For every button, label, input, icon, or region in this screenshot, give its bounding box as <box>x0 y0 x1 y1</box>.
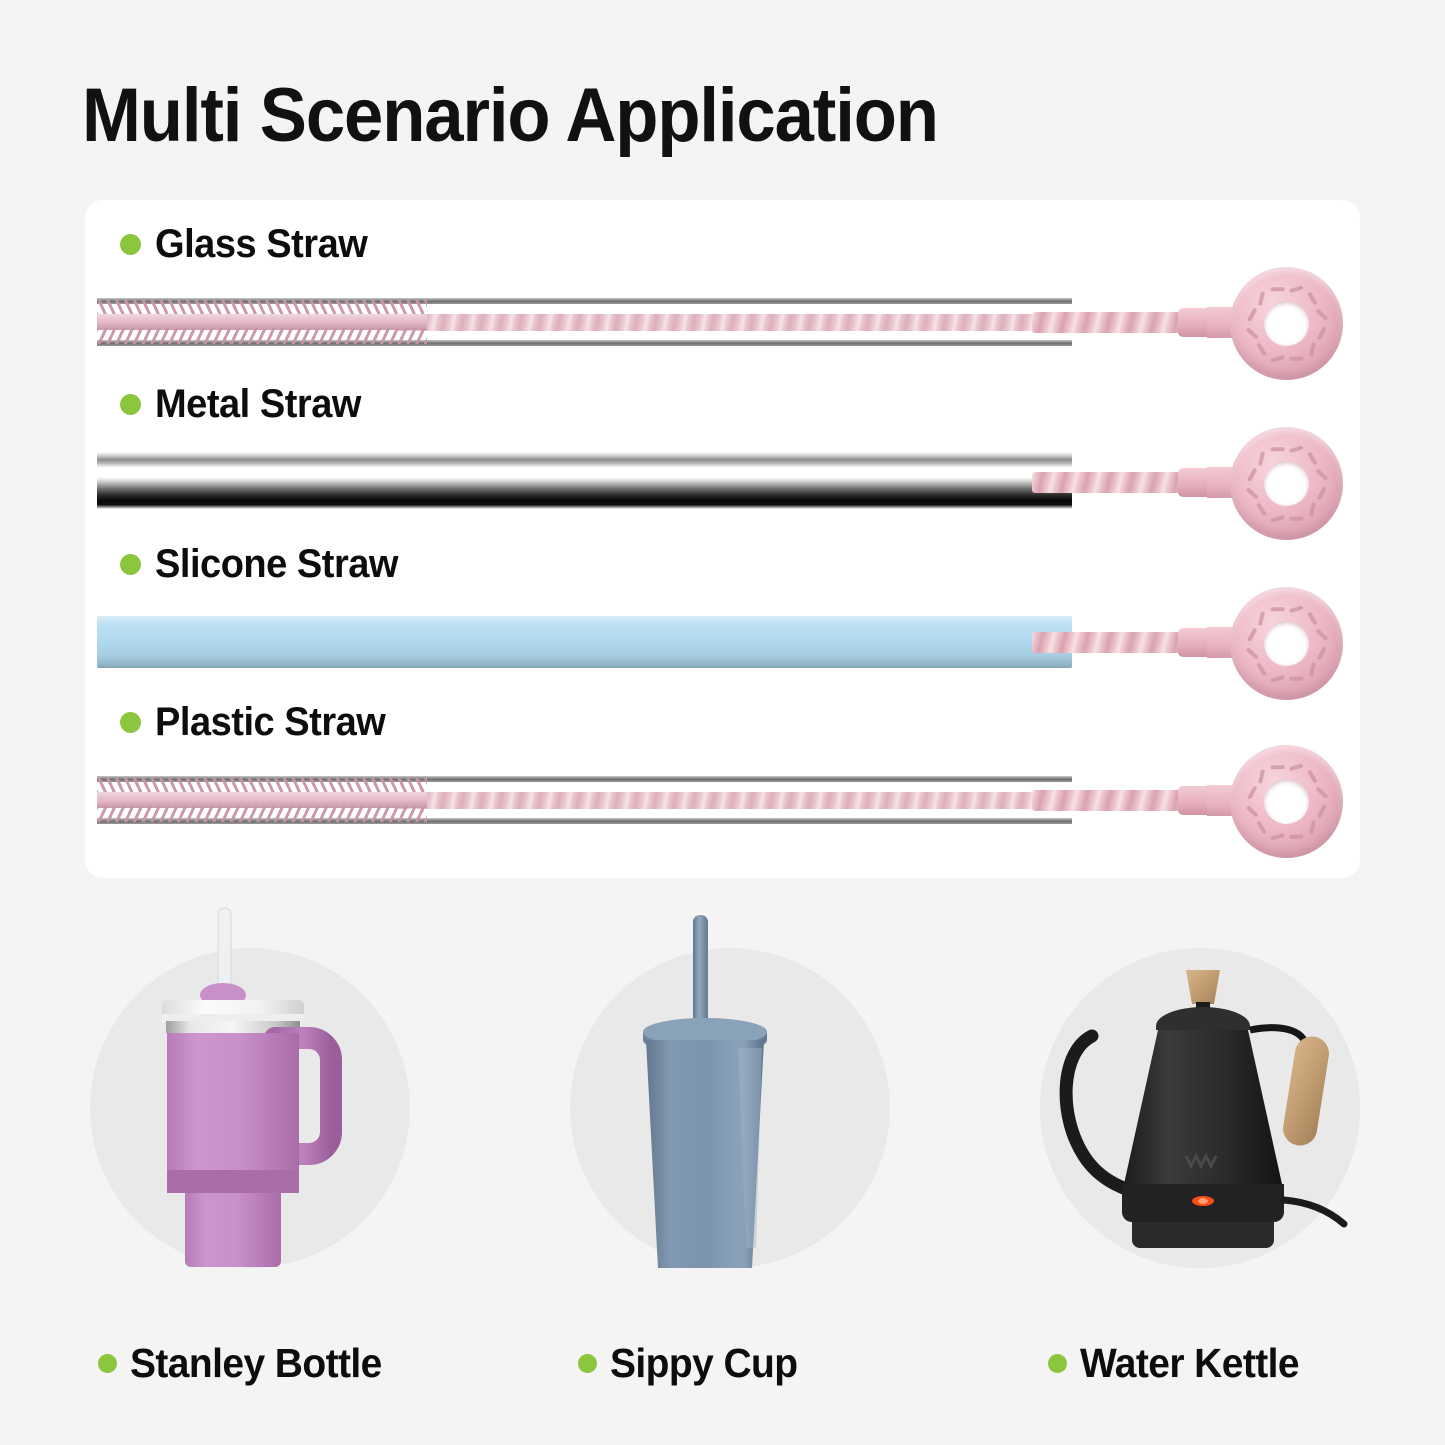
donut-sprinkle <box>1307 611 1318 625</box>
donut-handle-silicone <box>1032 594 1352 690</box>
donut-sprinkle <box>1247 627 1257 641</box>
donut-sprinkle <box>1289 676 1303 680</box>
straw-row-label-text: Plastic Straw <box>155 700 385 745</box>
donut-handle-plastic <box>1032 752 1352 848</box>
straw-comparison-card: Glass Straw Metal Straw <box>85 200 1360 878</box>
straw-graphic-glass <box>97 274 1352 370</box>
product-label-stanley-bottle: Stanley Bottle <box>98 1340 395 1387</box>
donut-sprinkle <box>1316 486 1326 500</box>
donut-handle-glass <box>1032 274 1352 370</box>
donut-sprinkle <box>1270 832 1285 840</box>
page-title: Multi Scenario Application <box>82 78 938 154</box>
donut-sprinkle <box>1270 765 1284 769</box>
donut-sprinkle <box>1316 646 1326 660</box>
handle-stem <box>1032 790 1182 811</box>
product-label-text: Sippy Cup <box>610 1340 797 1387</box>
bristle-band-bottom <box>97 328 427 344</box>
donut-sprinkle <box>1245 805 1258 817</box>
straw-row-label-text: Glass Straw <box>155 222 367 267</box>
bristle-band-bottom <box>97 806 427 822</box>
donut-sprinkle <box>1308 502 1315 517</box>
donut-sprinkle <box>1257 291 1264 306</box>
product-label-sippy-cup: Sippy Cup <box>578 1340 807 1387</box>
bullet-dot-icon <box>120 554 141 575</box>
silicone-tube <box>97 616 1072 668</box>
product-label-text: Water Kettle <box>1080 1340 1299 1387</box>
donut-ring-icon <box>1230 267 1343 380</box>
donut-sprinkle <box>1315 786 1328 798</box>
donut-sprinkle <box>1289 516 1303 520</box>
donut-sprinkle <box>1270 607 1284 611</box>
brush-bristles <box>97 778 427 822</box>
brush-wire-core <box>397 792 1077 809</box>
donut-sprinkle <box>1245 647 1258 659</box>
product-label-text: Stanley Bottle <box>130 1340 382 1387</box>
handle-stem <box>1032 632 1182 653</box>
sippy-cup-illustration <box>570 948 890 1268</box>
donut-sprinkle <box>1245 487 1258 499</box>
donut-sprinkle <box>1270 287 1284 291</box>
straw-graphic-silicone <box>97 594 1352 690</box>
bullet-dot-icon <box>120 234 141 255</box>
donut-sprinkle <box>1308 820 1315 835</box>
donut-sprinkle <box>1257 451 1264 466</box>
donut-sprinkle <box>1247 307 1257 321</box>
donut-sprinkle <box>1315 468 1328 480</box>
straw-row-label-plastic: Plastic Straw <box>120 700 398 745</box>
donut-sprinkle <box>1316 326 1326 340</box>
donut-sprinkle <box>1289 834 1303 838</box>
donut-sprinkle <box>1316 804 1326 818</box>
donut-sprinkle <box>1288 605 1303 613</box>
donut-hole <box>1264 461 1309 506</box>
donut-sprinkle <box>1247 467 1257 481</box>
donut-sprinkle <box>1256 662 1267 676</box>
donut-sprinkle <box>1288 763 1303 771</box>
donut-hole <box>1264 621 1309 666</box>
brush-bristles <box>97 300 427 344</box>
donut-sprinkle <box>1307 769 1318 783</box>
donut-sprinkle <box>1307 291 1318 305</box>
donut-sprinkle <box>1288 285 1303 293</box>
bullet-dot-icon <box>120 394 141 415</box>
donut-sprinkle <box>1247 785 1257 799</box>
metal-tube <box>97 452 1072 512</box>
bullet-dot-icon <box>98 1354 117 1373</box>
product-label-water-kettle: Water Kettle <box>1048 1340 1311 1387</box>
donut-sprinkle <box>1256 820 1267 834</box>
donut-hole <box>1264 779 1309 824</box>
donut-sprinkle <box>1245 327 1258 339</box>
donut-sprinkle <box>1270 354 1285 362</box>
donut-sprinkle <box>1257 611 1264 626</box>
handle-stem <box>1032 472 1182 493</box>
donut-sprinkle <box>1256 342 1267 356</box>
bullet-dot-icon <box>578 1354 597 1373</box>
bullet-dot-icon <box>1048 1354 1067 1373</box>
bullet-dot-icon <box>120 712 141 733</box>
donut-sprinkle <box>1315 628 1328 640</box>
donut-sprinkle <box>1288 445 1303 453</box>
donut-sprinkle <box>1289 356 1303 360</box>
straw-row-label-glass: Glass Straw <box>120 222 379 267</box>
straw-graphic-metal <box>97 434 1352 530</box>
donut-hole <box>1264 301 1309 346</box>
stanley-bottle-illustration <box>90 948 410 1268</box>
donut-sprinkle <box>1308 662 1315 677</box>
straw-row-label-text: Metal Straw <box>155 382 361 427</box>
donut-sprinkle <box>1256 502 1267 516</box>
donut-ring-icon <box>1230 587 1343 700</box>
handle-stem <box>1032 312 1182 333</box>
brush-wire-core <box>397 314 1077 331</box>
donut-sprinkle <box>1270 674 1285 682</box>
product-sippy-cup: Sippy Cup <box>570 948 890 1268</box>
water-kettle-illustration <box>1040 948 1360 1268</box>
donut-sprinkle <box>1308 342 1315 357</box>
donut-sprinkle <box>1315 308 1328 320</box>
straw-row-label-metal: Metal Straw <box>120 382 372 427</box>
product-water-kettle: Water Kettle <box>1040 948 1360 1268</box>
donut-ring-icon <box>1230 745 1343 858</box>
product-stanley-bottle: Stanley Bottle <box>90 948 410 1268</box>
donut-handle-metal <box>1032 434 1352 530</box>
donut-sprinkle <box>1270 447 1284 451</box>
donut-sprinkle <box>1270 514 1285 522</box>
donut-sprinkle <box>1307 451 1318 465</box>
straw-graphic-plastic <box>97 752 1352 848</box>
straw-row-label-text: Slicone Straw <box>155 542 398 587</box>
donut-sprinkle <box>1257 769 1264 784</box>
donut-ring-icon <box>1230 427 1343 540</box>
straw-row-label-silicone: Slicone Straw <box>120 542 411 587</box>
